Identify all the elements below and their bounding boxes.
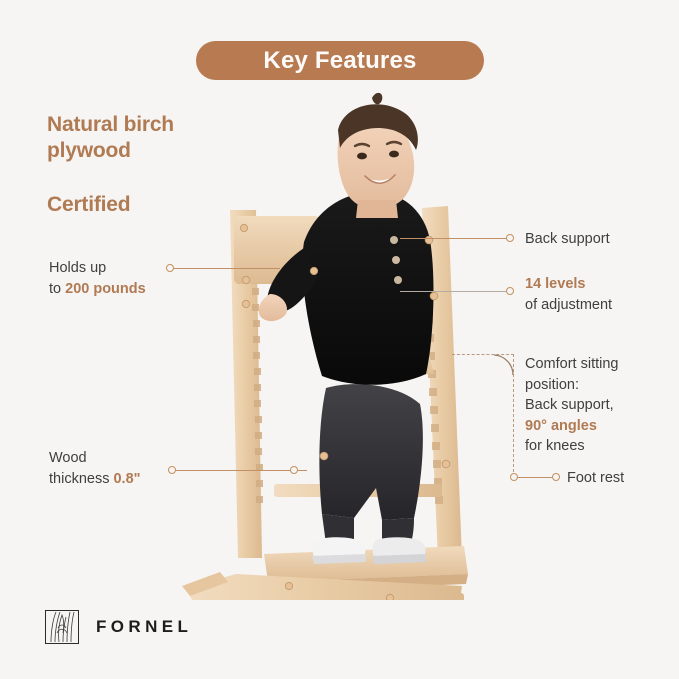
callout-holds-up-value: 200 pounds [65, 281, 146, 297]
connector-dot-foot-rest-start [510, 473, 518, 481]
connector-line-back-support [400, 238, 512, 239]
callout-comfort-line3: Back support, [525, 397, 614, 413]
callout-comfort-line2: position: [525, 377, 579, 393]
connector-dot-back-support [506, 234, 514, 242]
callout-levels-text: of adjustment [525, 297, 612, 313]
callout-back-support-text: Back support [525, 231, 610, 247]
callout-comfort-line1: Comfort sitting [525, 356, 618, 372]
callout-comfort-line5: for knees [525, 438, 585, 454]
heading-natural-birch-plywood: Natural birch plywood [47, 112, 237, 163]
ninety-degree-angle-arc-icon [492, 354, 516, 378]
product-photo-chair-with-child [176, 88, 506, 600]
callout-wood-thickness-value: 0.8" [113, 471, 140, 487]
callout-holds-up-line2-plain: to [49, 281, 65, 297]
connector-dot-levels [506, 287, 514, 295]
wood-grain-square-icon [45, 610, 79, 644]
connector-line-foot-rest [516, 477, 556, 478]
brand-name: FORNEL [96, 617, 192, 637]
brand-logo: FORNEL [45, 610, 192, 644]
callout-comfort-angle-value: 90° angles [525, 418, 597, 434]
callout-wood-thickness-line1: Wood [49, 450, 87, 466]
callout-levels-of-adjustment: 14 levels of adjustment [525, 274, 675, 315]
callout-comfort-sitting-position: Comfort sitting position: Back support, … [525, 354, 677, 457]
callout-levels-value: 14 levels [525, 276, 585, 292]
connector-dot-foot-rest-end [552, 473, 560, 481]
connector-line-levels [400, 291, 512, 292]
callout-wood-thickness-line2-plain: thickness [49, 471, 113, 487]
callout-wood-thickness: Wood thickness 0.8" [49, 448, 224, 489]
infographic-canvas: Key Features [0, 0, 679, 679]
callout-back-support: Back support [525, 229, 675, 250]
callout-holds-up: Holds up to 200 pounds [49, 258, 219, 299]
callout-foot-rest: Foot rest [567, 468, 679, 489]
key-features-badge: Key Features [196, 41, 484, 80]
callout-holds-up-line1: Holds up [49, 260, 106, 276]
page-title: Key Features [263, 47, 416, 75]
connector-dot-wood-thickness-end [290, 466, 298, 474]
callout-foot-rest-text: Foot rest [567, 470, 624, 486]
chair-illustration [176, 88, 506, 600]
heading-certified: Certified [47, 192, 237, 218]
